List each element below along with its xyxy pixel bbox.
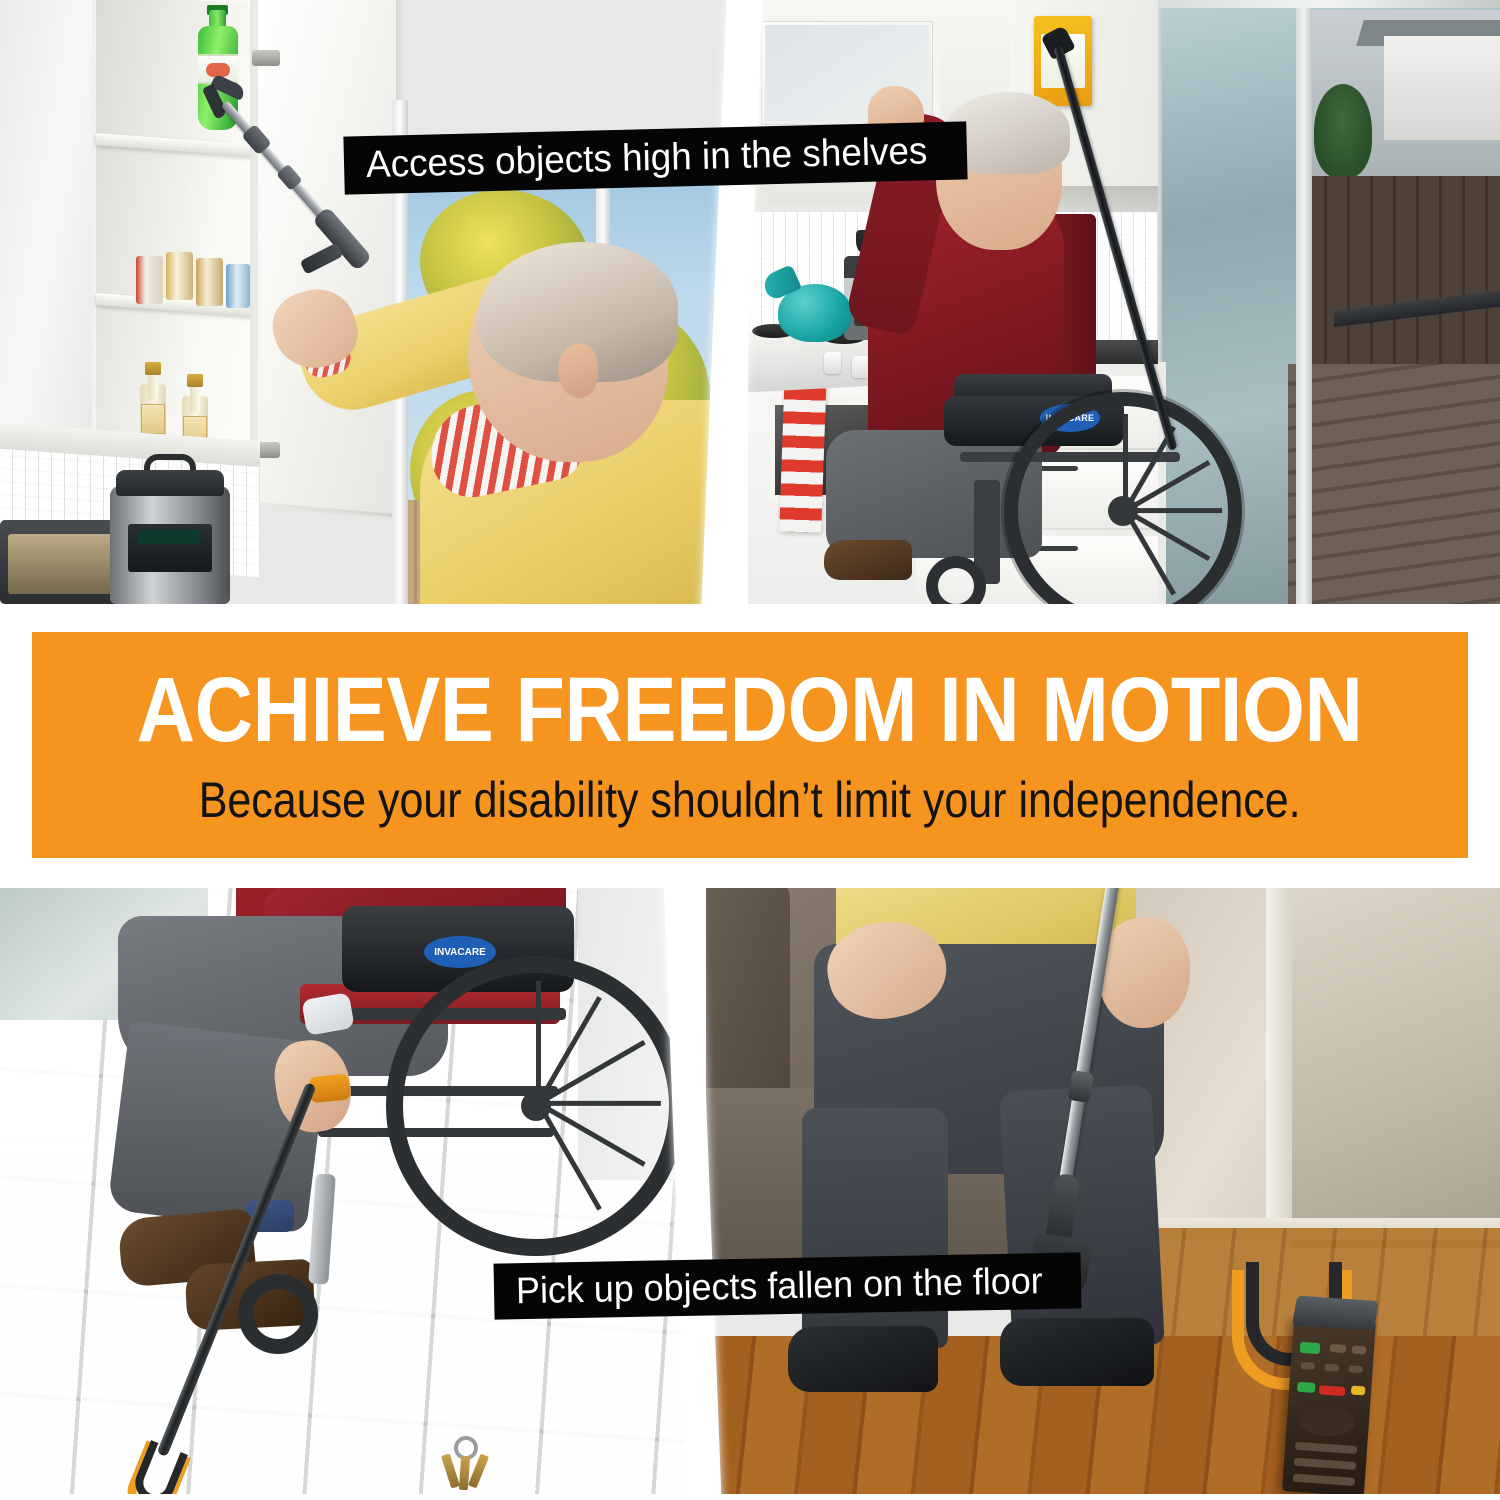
wooden-deck [1288,364,1500,604]
teal-kettle [778,284,852,342]
wheelchair-caster [238,1274,318,1354]
banner-subline: Because your disability shouldn’t limit … [199,774,1301,827]
person-ear [558,344,598,398]
caption-bottom: Pick up objects fallen on the floor [494,1252,1082,1319]
dark-fence [1304,176,1500,366]
canned-good [196,258,223,306]
palm-tree [1314,84,1372,178]
glass-panel [1292,888,1500,1248]
keys [440,1436,496,1488]
door-header [1148,0,1500,8]
person-shoe [1000,1318,1154,1386]
wheelchair-wheel [386,956,686,1256]
photo-couch-pick-up-remote [706,888,1500,1500]
pressure-cooker [110,486,230,604]
caption-top-text: Access objects high in the shelves [366,130,928,187]
bottom-edge [0,1494,1500,1500]
person-shoe [824,540,912,580]
person-shoe [788,1326,938,1392]
packaged-good [226,264,250,308]
canned-good [136,256,163,304]
cabinet-hinge [252,50,280,66]
red-striped-towel [779,369,827,532]
caption-bottom-text: Pick up objects fallen on the floor [516,1260,1043,1312]
photo-wheelchair-kitchen-reach [748,0,1500,604]
photo-wheelchair-pick-up-keys [0,888,690,1500]
canned-good [166,252,193,300]
wheelchair-brand-logo [424,936,496,968]
tv-remote [1282,1315,1376,1496]
product-infographic: ACHIEVE FREEDOM IN MOTION Because your d… [0,0,1500,1500]
stove-knob[interactable] [824,352,841,374]
door-frame [1266,888,1292,1252]
photo-kitchen-cabinet-reach [0,0,728,604]
stove-knob[interactable] [852,356,869,378]
banner-headline: ACHIEVE FREEDOM IN MOTION [137,664,1363,756]
door-frame [1296,0,1312,604]
neighbour-house [1384,36,1500,140]
promo-banner: ACHIEVE FREEDOM IN MOTION Because your d… [32,632,1468,858]
